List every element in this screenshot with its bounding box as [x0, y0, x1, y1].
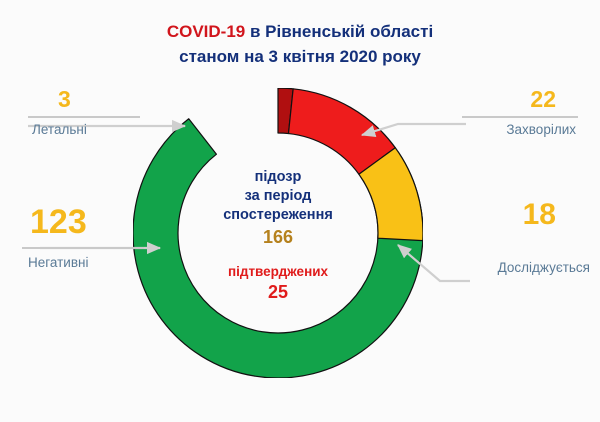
callout-negative: 123 Негативні	[22, 205, 144, 270]
callout-sick-label: Захворілих	[462, 122, 576, 137]
callout-negative-value: 123	[30, 205, 144, 239]
callout-lethal-label: Летальні	[32, 122, 140, 137]
title-line-2: станом на 3 квітня 2020 року	[0, 45, 600, 70]
callout-lethal-value: 3	[58, 88, 140, 111]
callout-lethal-rule	[28, 116, 140, 118]
donut-chart	[133, 88, 423, 378]
callout-negative-label: Негативні	[28, 255, 144, 270]
callout-investigated: 18 Досліджується	[448, 200, 590, 275]
callout-sick-value: 22	[462, 88, 556, 111]
callout-lethal: 3 Летальні	[28, 88, 140, 137]
callout-sick-rule	[462, 116, 578, 118]
callout-investigated-label: Досліджується	[448, 260, 590, 275]
donut-slices	[133, 88, 423, 378]
callout-investigated-value: 18	[448, 200, 556, 230]
covid-highlight: COVID-19	[167, 22, 245, 41]
callout-negative-rule	[22, 247, 144, 249]
callout-sick: 22 Захворілих	[462, 88, 578, 137]
title-line-1-rest: в Рівненській області	[245, 22, 433, 41]
infographic-canvas: COVID-19 в Рівненській області станом на…	[0, 0, 600, 422]
page-title: COVID-19 в Рівненській області станом на…	[0, 20, 600, 69]
title-line-1: COVID-19 в Рівненській області	[0, 20, 600, 45]
